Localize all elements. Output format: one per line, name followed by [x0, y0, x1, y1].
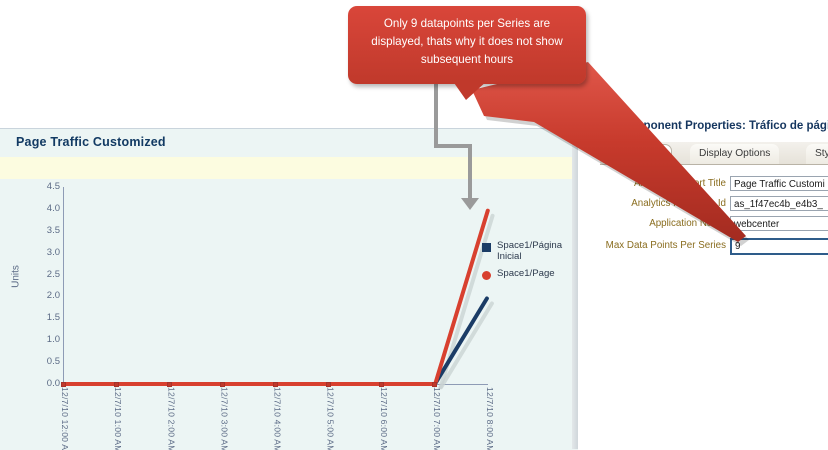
- y-axis-tick-label: 1.0: [26, 335, 60, 344]
- y-axis-tick-label: 4.5: [26, 182, 60, 191]
- chart-data-point-marker: [61, 382, 66, 387]
- y-axis-ticks: 4.54.03.53.02.52.01.51.00.50.0: [18, 179, 60, 394]
- red-annotation-arrow: [470, 60, 760, 250]
- chart-series-segment: [382, 382, 435, 386]
- chart-series-segment: [329, 382, 382, 386]
- x-axis-tick-label: 12/7/10 3:00 AM: [216, 387, 228, 450]
- chart-series-segment: [63, 382, 116, 386]
- y-axis-tick-label: 2.5: [26, 270, 60, 279]
- annotation-callout: Only 9 datapoints per Series are display…: [348, 6, 586, 84]
- y-axis-label: Units: [11, 247, 22, 307]
- y-axis-tick-label: 3.5: [26, 226, 60, 235]
- callout-connector-segment-2: [434, 144, 472, 148]
- y-axis-tick-label: 4.0: [26, 204, 60, 213]
- chart-data-point-marker: [167, 382, 172, 387]
- x-axis-tick-label: 12/7/10 4:00 AM: [270, 387, 282, 450]
- tab-styl[interactable]: Styl: [806, 144, 828, 164]
- chart-data-point-marker: [326, 382, 331, 387]
- chart-series-segment: [276, 382, 329, 386]
- chart-legend-label: Space1/Page: [497, 269, 555, 280]
- chart-data-point-marker: [273, 382, 278, 387]
- chart-legend-item[interactable]: Space1/Page: [482, 269, 578, 280]
- y-axis-tick-label: 1.5: [26, 313, 60, 322]
- x-axis-tick-label: 12/7/10 1:00 AM: [110, 387, 122, 450]
- y-axis-tick-label: 3.0: [26, 248, 60, 257]
- chart-data-point-marker: [114, 382, 119, 387]
- callout-connector-segment-1: [434, 84, 438, 148]
- y-axis-line: [63, 187, 64, 384]
- x-axis-tick-label: 12/7/10 5:00 AM: [323, 387, 335, 450]
- chart-data-point-marker: [379, 382, 384, 387]
- chart-series-segment: [222, 382, 275, 386]
- x-axis-ticks: 12/7/10 12:00 AM12/7/10 1:00 AM12/7/10 2…: [0, 387, 578, 450]
- annotation-callout-text: Only 9 datapoints per Series are display…: [360, 15, 574, 69]
- chart-data-point-marker: [432, 382, 437, 387]
- chart-series-segment: [169, 382, 222, 386]
- x-axis-tick-label: 12/7/10 6:00 AM: [376, 387, 388, 450]
- chart-data-point-marker: [220, 382, 225, 387]
- chart-panel-title: Page Traffic Customized: [16, 135, 166, 149]
- legend-circle-icon: [482, 271, 491, 280]
- x-axis-tick-label: 12/7/10 7:00 AM: [429, 387, 441, 450]
- chart-series-segment: [116, 382, 169, 386]
- x-axis-tick-label: 12/7/10 12:00 AM: [57, 387, 69, 450]
- y-axis-tick-label: 2.0: [26, 291, 60, 300]
- annotation-callout-tail: [452, 80, 488, 100]
- x-axis-tick-label: 12/7/10 8:00 AM: [482, 387, 494, 450]
- y-axis-tick-label: 0.5: [26, 357, 60, 366]
- x-axis-tick-label: 12/7/10 2:00 AM: [163, 387, 175, 450]
